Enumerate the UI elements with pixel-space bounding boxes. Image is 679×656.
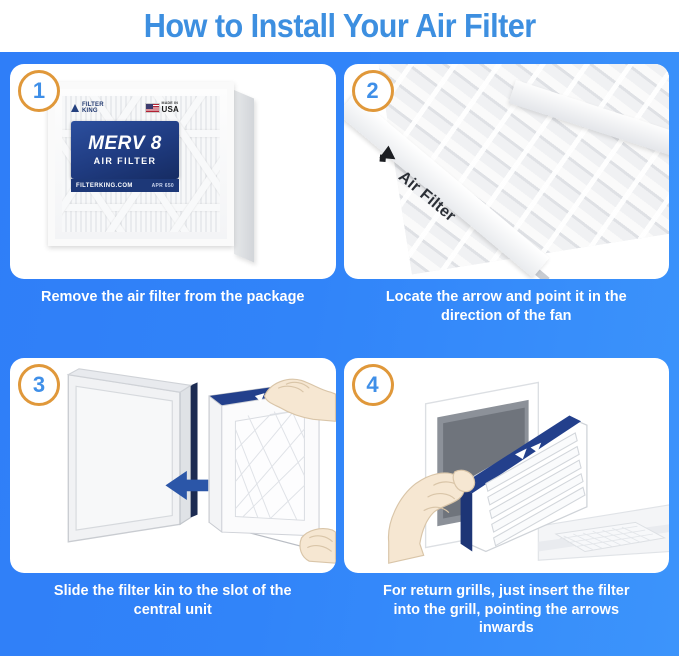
step-2: Air Filter 2 Locate the arrow and point …	[344, 64, 670, 354]
step-4-caption-line-1: For return grills, just insert the filte…	[383, 582, 630, 601]
step-1-card: FILTER KING MADE IN USA	[10, 64, 336, 279]
arrow-tail	[379, 155, 386, 162]
filter-brand-row: FILTER KING MADE IN USA	[71, 99, 179, 117]
step-4-caption-line-2: into the grill, pointing the arrows	[383, 601, 630, 620]
step-3-number: 3	[33, 374, 45, 396]
step-2-caption-wrap: Locate the arrow and point it in the dir…	[344, 279, 670, 354]
step-1-caption-wrap: Remove the air filter from the package	[10, 279, 336, 354]
filter-front-face: FILTER KING MADE IN USA	[48, 82, 234, 246]
made-in-usa-text: MADE IN USA	[162, 102, 180, 114]
hand-bottom	[300, 529, 336, 564]
step-3-caption-line-2: central unit	[54, 601, 292, 620]
step-3-caption: Slide the filter kin to the slot of the …	[44, 582, 302, 619]
steps-grid: FILTER KING MADE IN USA	[0, 52, 679, 656]
merv-rating-label: MERV 8 AIR FILTER	[71, 121, 179, 179]
step-4-caption-wrap: For return grills, just insert the filte…	[344, 573, 670, 648]
step-2-number: 2	[366, 80, 378, 102]
filter-king-logo: FILTER KING	[71, 102, 104, 114]
step-2-caption-line-2: direction of the fan	[386, 307, 627, 326]
us-flag-icon	[145, 103, 160, 113]
step-4: 4 For return grills, just insert the fil…	[344, 358, 670, 648]
crown-icon	[71, 104, 80, 112]
made-in-usa-badge: MADE IN USA	[145, 102, 180, 114]
central-unit-housing	[68, 369, 197, 542]
step-4-card: 4	[344, 358, 670, 573]
filter-side-depth	[234, 90, 254, 262]
step-2-caption: Locate the arrow and point it in the dir…	[376, 288, 637, 325]
step-2-caption-line-1: Locate the arrow and point it in the	[386, 288, 627, 307]
country-label: USA	[162, 106, 180, 114]
merv-rating-text: MERV 8	[88, 134, 162, 153]
step-3-caption-wrap: Slide the filter kin to the slot of the …	[10, 573, 336, 648]
step-4-caption-line-3: inwards	[383, 619, 630, 638]
header-band: How to Install Your Air Filter	[0, 0, 679, 52]
filter-brace-h2	[62, 204, 220, 211]
step-1-caption: Remove the air filter from the package	[31, 288, 315, 307]
brand-line-2: KING	[82, 108, 104, 114]
step-3-caption-line-1: Slide the filter kin to the slot of the	[54, 582, 292, 601]
step-1-badge: 1	[18, 70, 60, 112]
apr-rating-text: APR 650	[152, 183, 174, 189]
product-type-text: AIR FILTER	[94, 156, 157, 166]
brand-name: FILTER KING	[82, 102, 104, 114]
infographic-root: How to Install Your Air Filter	[0, 0, 679, 656]
page-title: How to Install Your Air Filter	[144, 7, 536, 45]
step-4-badge: 4	[352, 364, 394, 406]
step-3-badge: 3	[18, 364, 60, 406]
step-1-number: 1	[33, 80, 45, 102]
step-2-badge: 2	[352, 70, 394, 112]
step-1: FILTER KING MADE IN USA	[10, 64, 336, 354]
step-3-card: 3	[10, 358, 336, 573]
filter-info-strip: FILTERKING.COM APR 650	[71, 179, 179, 192]
step-3: 3 Slide the filter kin to the slot of th…	[10, 358, 336, 648]
step-4-number: 4	[366, 374, 378, 396]
website-text: FILTERKING.COM	[76, 183, 133, 189]
step-2-card: Air Filter 2	[344, 64, 670, 279]
step-4-caption: For return grills, just insert the filte…	[373, 582, 640, 638]
